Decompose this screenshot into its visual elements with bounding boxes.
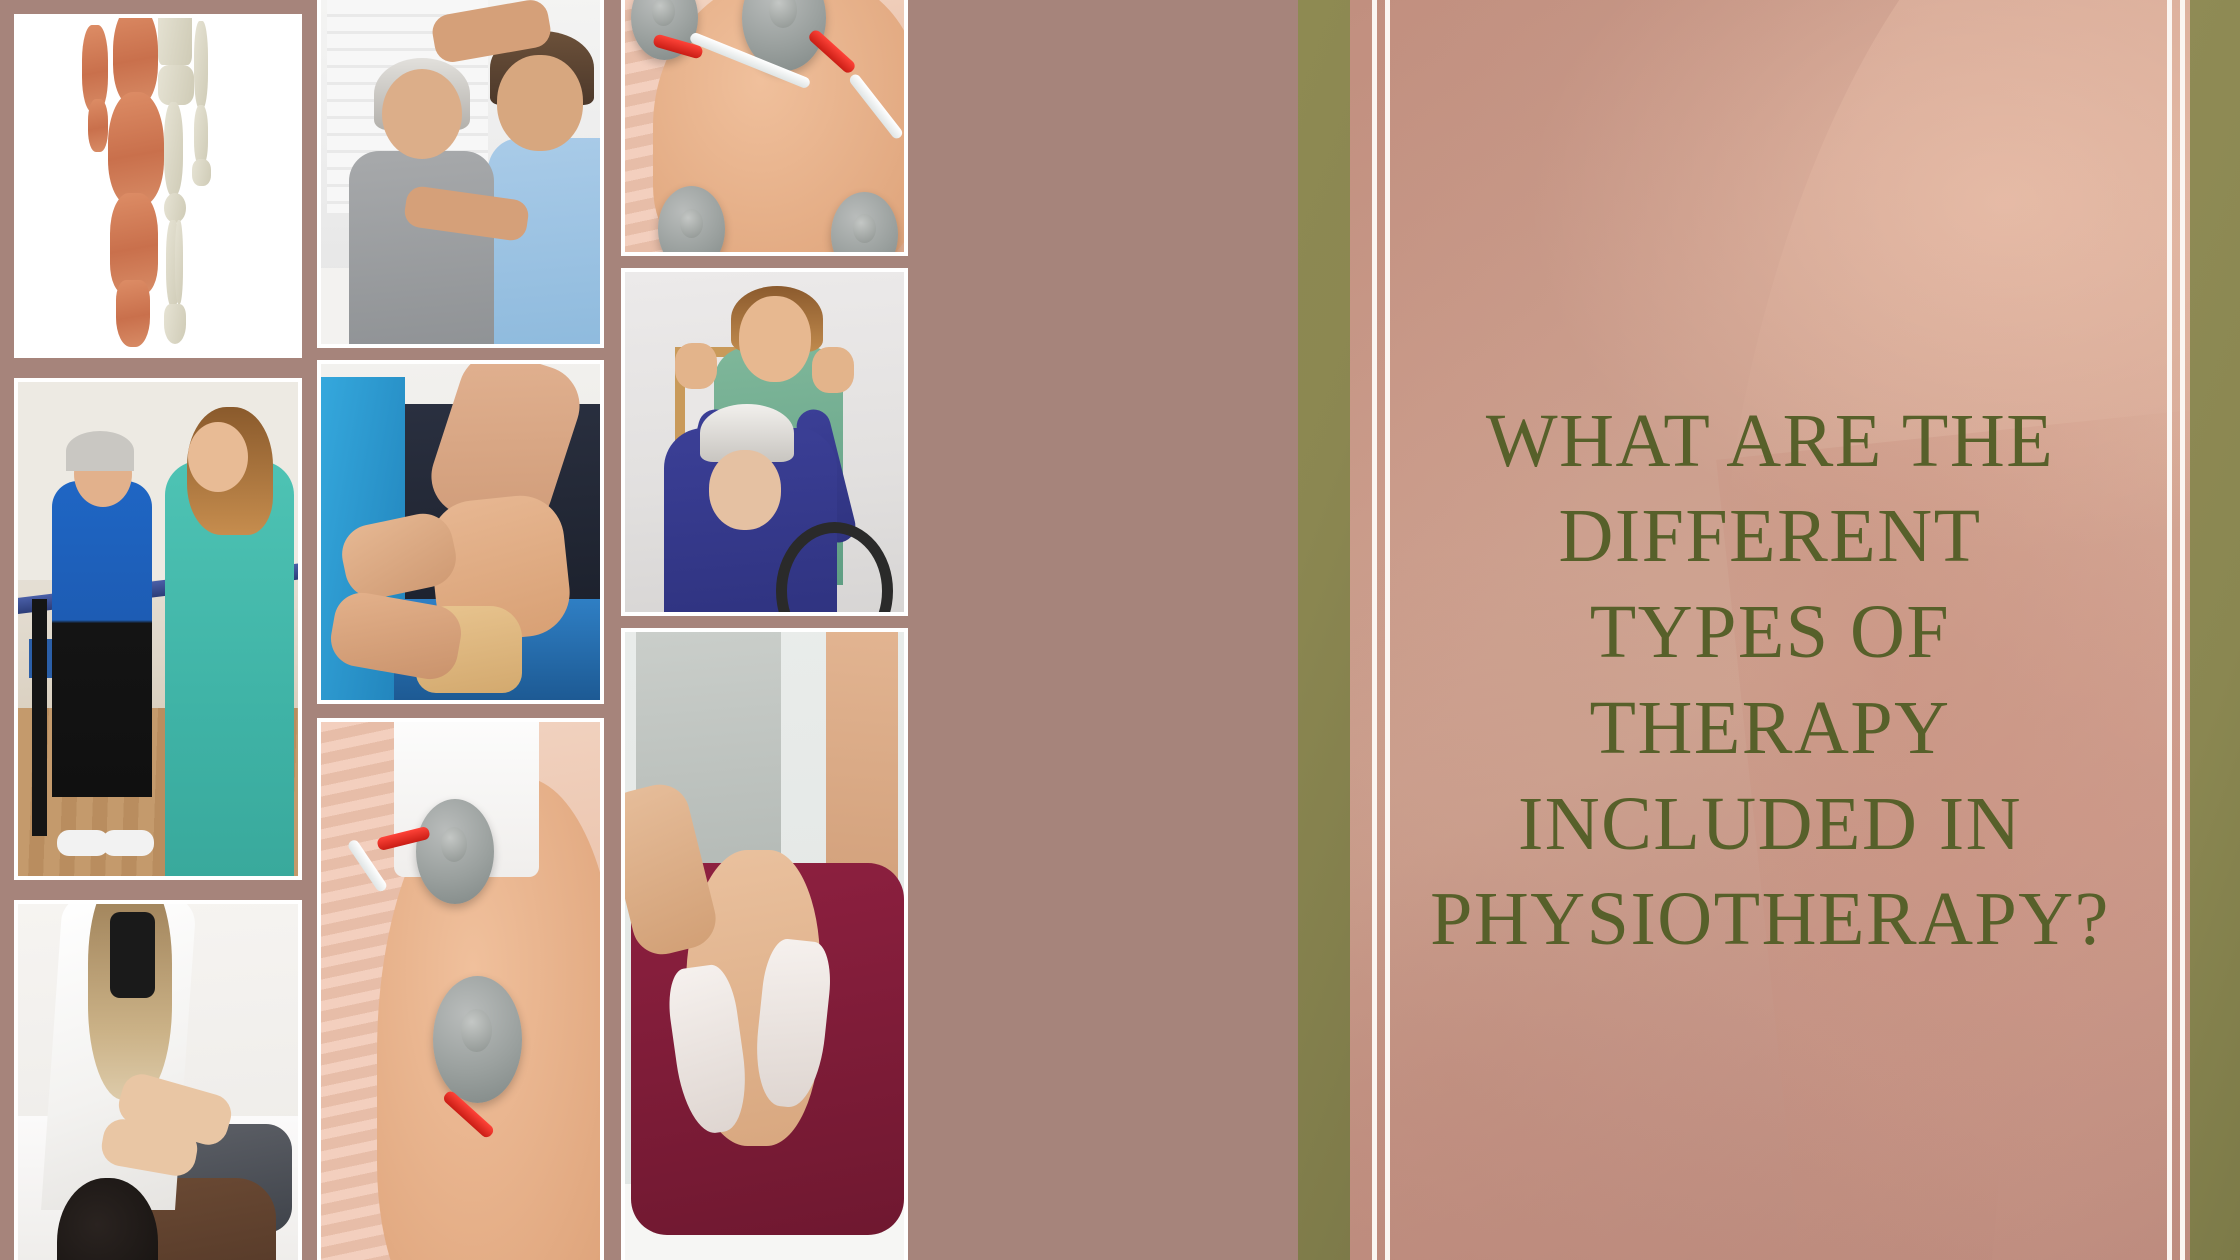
photo-manual-back-therapy-gloves — [621, 628, 908, 1260]
photo-wheelchair-arm-exercise — [621, 268, 908, 616]
headline-line-3: TYPES OF — [1590, 585, 1950, 681]
electrode-pad — [433, 976, 522, 1103]
photo-gait-training-parallel-bars — [14, 378, 302, 880]
panel-rule-left-inner — [1385, 0, 1390, 1260]
headline-line-6: PHYSIOTHERAPY? — [1430, 872, 2110, 968]
photo-leg-ankle-massage — [317, 360, 604, 704]
collage-column-3 — [621, 0, 908, 1260]
photo-collage — [0, 0, 1298, 1260]
wheelchair-exercise-scene — [625, 272, 904, 612]
panel-rule-right-outer — [2180, 0, 2185, 1260]
shoulder-mobilization-scene — [321, 0, 600, 344]
headline-line-4: THERAPY — [1590, 681, 1951, 777]
headline-line-2: DIFFERENT — [1558, 489, 1981, 585]
collage-column-1 — [14, 0, 302, 1260]
headline-line-1: WHAT ARE THE — [1486, 394, 2054, 490]
leg-massage-scene — [321, 364, 600, 700]
panel-rule-left-outer — [1372, 0, 1377, 1260]
photo-shoulder-mobilization — [317, 0, 604, 348]
photo-white-coat-back-treatment — [14, 900, 302, 1260]
olive-divider-band-right — [2190, 0, 2240, 1260]
title-panel: WHAT ARE THE DIFFERENT TYPES OF THERAPY … — [1350, 0, 2190, 1260]
photo-tens-electrode-closeup — [621, 0, 908, 256]
manual-back-therapy-scene — [625, 632, 904, 1260]
collage-column-2 — [317, 0, 604, 1260]
gait-training-scene — [18, 382, 298, 876]
poster-canvas: WHAT ARE THE DIFFERENT TYPES OF THERAPY … — [0, 0, 2240, 1260]
tens-electrode-closeup-scene — [625, 0, 904, 252]
anatomy-illustration — [18, 18, 298, 354]
photo-electrotherapy-shoulder-pads — [317, 718, 604, 1260]
poster-headline: WHAT ARE THE DIFFERENT TYPES OF THERAPY … — [1410, 51, 2130, 1260]
white-coat-treatment-scene — [18, 904, 298, 1260]
panel-rule-right-inner — [2167, 0, 2172, 1260]
electrotherapy-scene — [321, 722, 600, 1260]
olive-divider-band-left — [1298, 0, 1350, 1260]
electrode-pad — [416, 799, 494, 904]
photo-anatomy-muscle-skeleton — [14, 14, 302, 358]
headline-line-5: INCLUDED IN — [1518, 777, 2022, 873]
